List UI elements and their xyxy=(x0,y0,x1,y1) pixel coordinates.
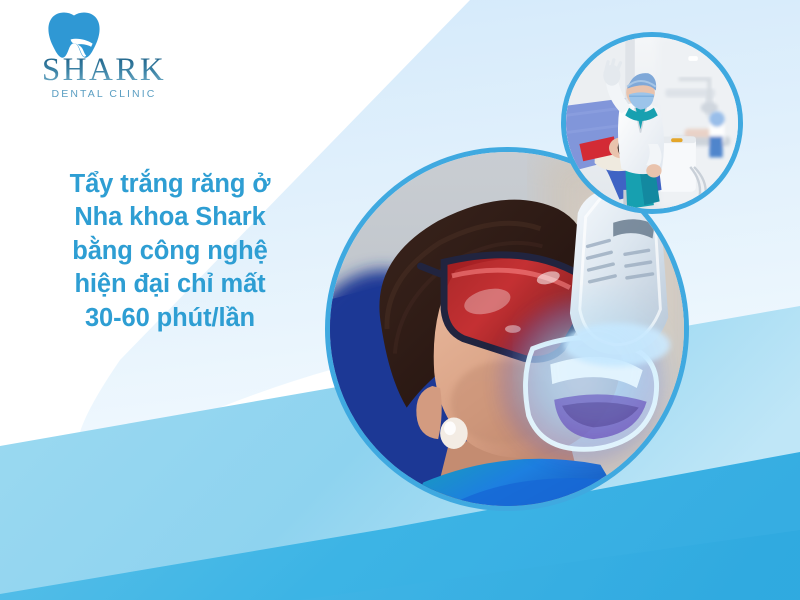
dental-clinic-room-photo xyxy=(561,32,743,214)
dental-clinic-room-scene xyxy=(566,37,738,209)
poster-canvas: SHARK DENTAL CLINIC Tẩy trắng răng ở Nha… xyxy=(0,0,800,600)
headline: Tẩy trắng răng ở Nha khoa Shark bằng côn… xyxy=(20,168,320,335)
headline-line-1: Tẩy trắng răng ở xyxy=(20,168,320,201)
headline-line-4: hiện đại chỉ mất xyxy=(20,268,320,301)
brand-logo[interactable]: SHARK DENTAL CLINIC xyxy=(14,10,194,102)
headline-line-3: bằng công nghệ xyxy=(20,235,320,268)
logo-tagline: DENTAL CLINIC xyxy=(14,88,194,100)
logo-wordmark: SHARK xyxy=(14,54,194,87)
deep-band xyxy=(300,530,800,600)
headline-line-2: Nha khoa Shark xyxy=(20,201,320,234)
headline-line-5: 30-60 phút/lần xyxy=(20,302,320,335)
